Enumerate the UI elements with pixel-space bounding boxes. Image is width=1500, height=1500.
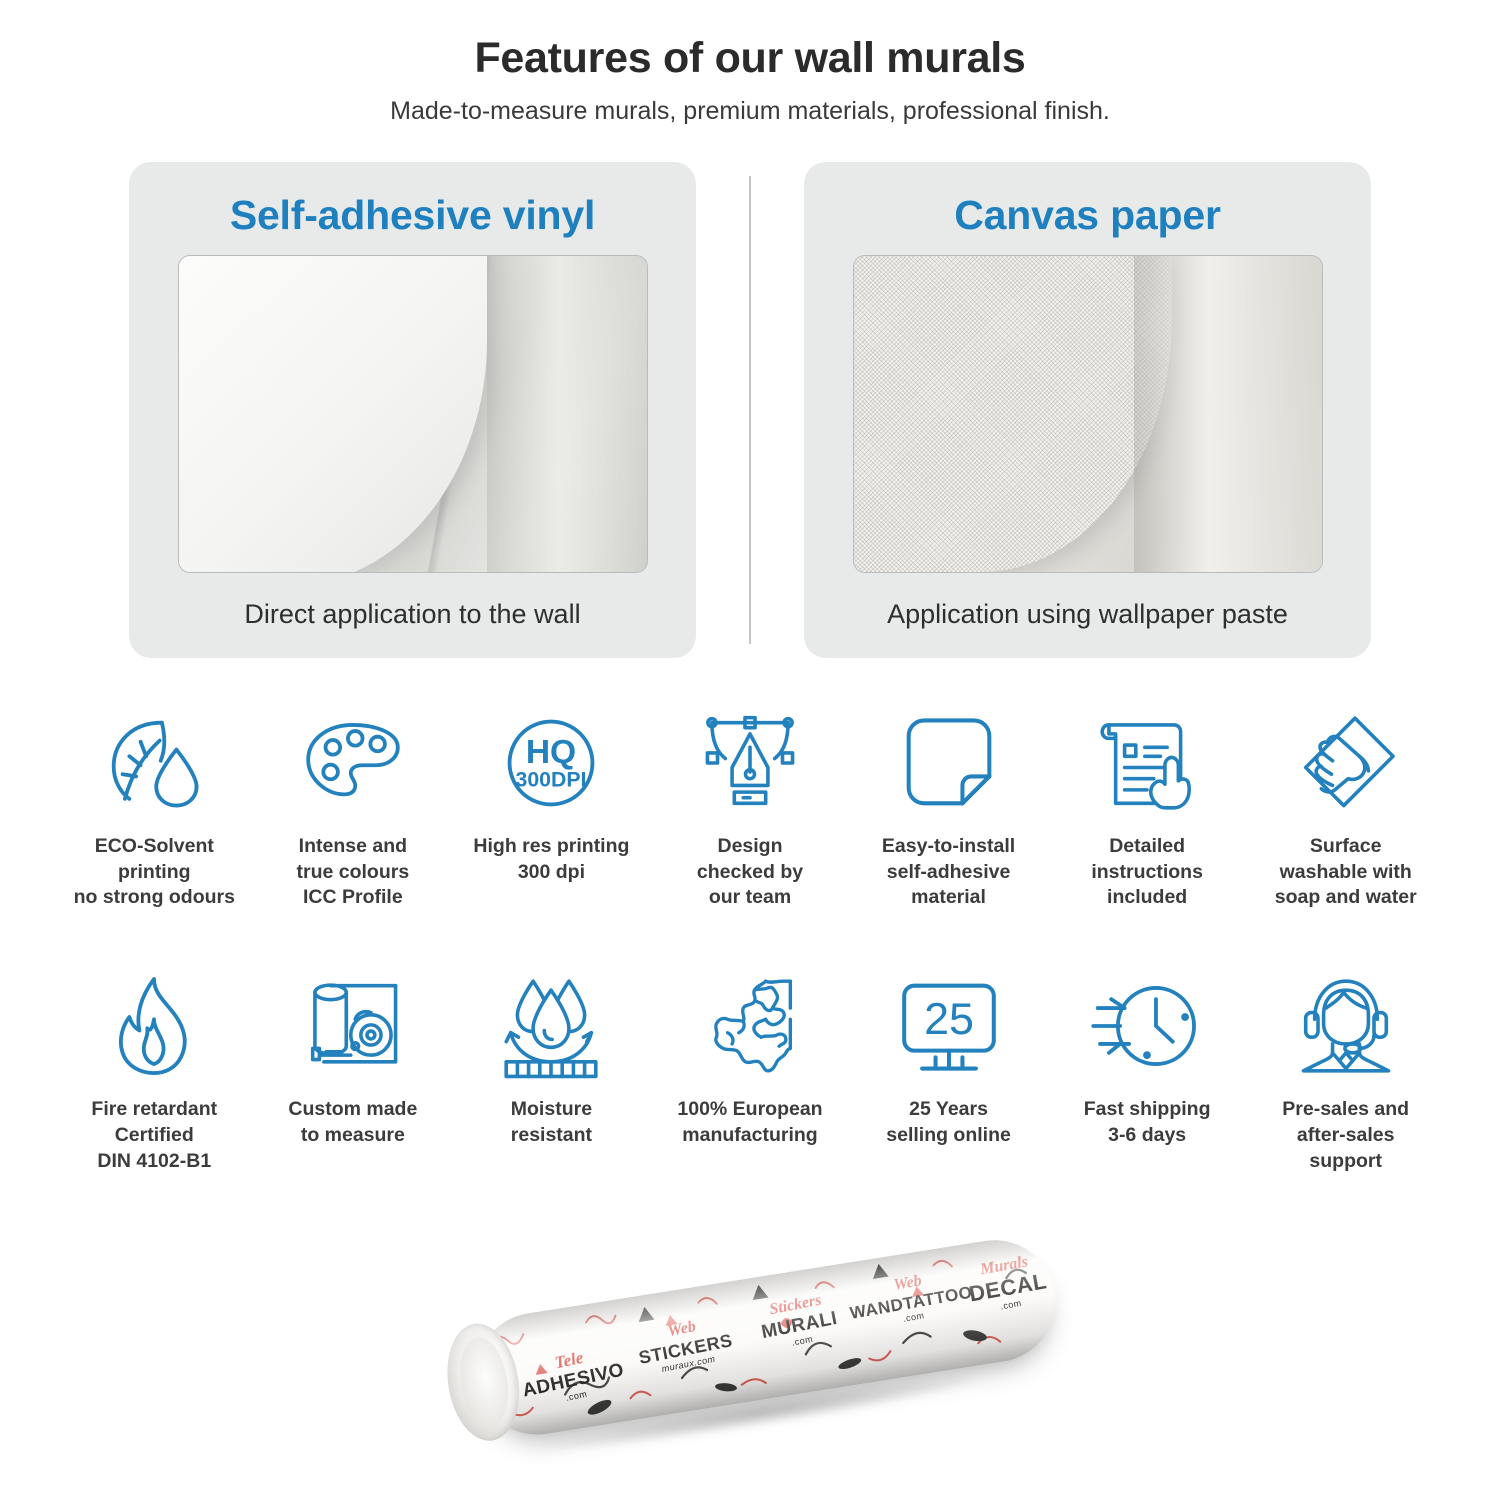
feature-label: ECO-Solvent printing no strong odours (74, 834, 235, 911)
feature-moisture-resistant: Moisture resistant (452, 967, 651, 1148)
tube-cap-inner (454, 1334, 514, 1430)
canvas-roll-photo (853, 255, 1323, 573)
features-row-1: ECO-Solvent printing no strong odours In… (55, 704, 1445, 911)
feature-surface-washable: Surface washable with soap and water (1246, 704, 1445, 911)
material-card-self-adhesive-vinyl[interactable]: Self-adhesive vinyl Direct application t… (129, 162, 696, 658)
material-card-title: Canvas paper (954, 192, 1221, 239)
monitor-25-icon: 25 (893, 967, 1005, 1085)
feature-label: 25 Years selling online (886, 1097, 1011, 1148)
feature-label: Detailed instructions included (1091, 834, 1203, 911)
fast-clock-icon (1091, 967, 1203, 1085)
material-card-caption: Direct application to the wall (244, 597, 580, 632)
headset-agent-icon (1290, 967, 1402, 1085)
feature-label: 100% European manufacturing (677, 1097, 822, 1148)
feature-fire-retardant: Fire retardant Certified DIN 4102-B1 (55, 967, 254, 1174)
feature-label: Easy-to-install self-adhesive material (882, 834, 1015, 911)
features-grid: ECO-Solvent printing no strong odours In… (55, 704, 1445, 1174)
material-card-canvas-paper[interactable]: Canvas paper Application using wallpaper… (804, 162, 1371, 658)
feature-25-years-online: 25 25 Years selling online (849, 967, 1048, 1148)
feature-label: Surface washable with soap and water (1275, 834, 1417, 911)
feature-label: Fire retardant Certified DIN 4102-B1 (91, 1097, 217, 1174)
feature-label: Fast shipping 3-6 days (1084, 1097, 1211, 1148)
paint-palette-icon (297, 704, 409, 822)
cards-vertical-divider (749, 176, 751, 644)
page-header: Features of our wall murals Made-to-meas… (0, 0, 1500, 126)
material-card-caption: Application using wallpaper paste (887, 597, 1288, 632)
vinyl-roll-photo (178, 255, 648, 573)
shipping-tube-photo: Tele ADHESIVO .com Web STICKERS muraux.c… (430, 1210, 1071, 1485)
feature-easy-to-install: Easy-to-install self-adhesive material (849, 704, 1048, 911)
material-card-title: Self-adhesive vinyl (230, 192, 595, 239)
feature-european-manufacturing: 100% European manufacturing (651, 967, 850, 1148)
hand-wiping-cloth-icon (1290, 704, 1402, 822)
hq-badge-top: HQ (526, 734, 576, 771)
instructions-hand-icon (1091, 704, 1203, 822)
feature-custom-made: Custom made to measure (254, 967, 453, 1148)
material-cards-row: Self-adhesive vinyl Direct application t… (0, 162, 1500, 658)
features-row-2: Fire retardant Certified DIN 4102-B1 (55, 967, 1445, 1174)
feature-detailed-instructions: Detailed instructions included (1048, 704, 1247, 911)
feature-label: Design checked by our team (697, 834, 803, 911)
feature-intense-colours: Intense and true colours ICC Profile (254, 704, 453, 911)
monitor-badge-value: 25 (924, 994, 974, 1044)
peeling-sticker-icon (893, 704, 1005, 822)
feature-fast-shipping: Fast shipping 3-6 days (1048, 967, 1247, 1148)
pen-nib-bezier-icon (694, 704, 806, 822)
feature-label: Moisture resistant (511, 1097, 592, 1148)
feature-high-res-printing: HQ 300DPI High res printing 300 dpi (452, 704, 651, 885)
page-subtitle: Made-to-measure murals, premium material… (0, 97, 1500, 126)
feature-label: Pre-sales and after-sales support (1282, 1097, 1409, 1174)
feature-support: Pre-sales and after-sales support (1246, 967, 1445, 1174)
leaf-droplet-icon (98, 704, 210, 822)
feature-eco-solvent: ECO-Solvent printing no strong odours (55, 704, 254, 911)
europe-map-icon (694, 967, 806, 1085)
feature-label: Custom made to measure (288, 1097, 417, 1148)
shipping-tube-section: Tele ADHESIVO .com Web STICKERS muraux.c… (0, 1232, 1500, 1462)
feature-label: High res printing 300 dpi (473, 834, 629, 885)
flame-icon (98, 967, 210, 1085)
page-title: Features of our wall murals (0, 34, 1500, 83)
feature-design-checked: Design checked by our team (651, 704, 850, 911)
water-droplets-surface-icon (495, 967, 607, 1085)
roll-tape-measure-icon (297, 967, 409, 1085)
feature-label: Intense and true colours ICC Profile (297, 834, 410, 911)
hq-300dpi-badge-icon: HQ 300DPI (495, 704, 607, 822)
hq-badge-bottom: 300DPI (516, 768, 587, 792)
